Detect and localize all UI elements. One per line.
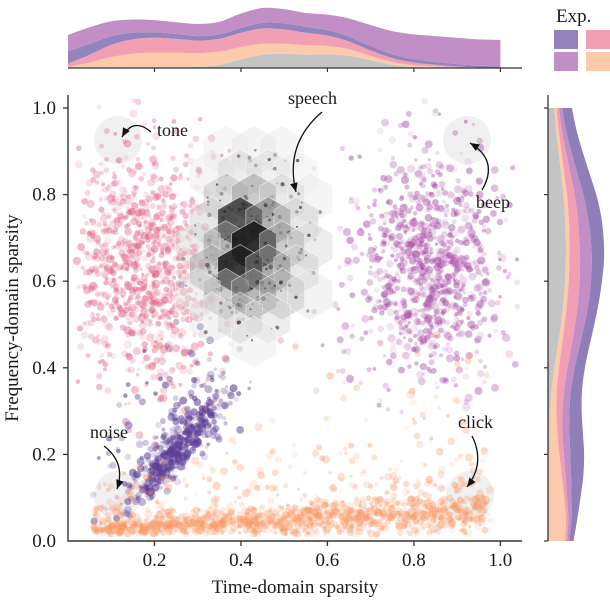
scatter-point <box>127 402 131 406</box>
scatter-point <box>169 428 177 436</box>
scatter-point <box>403 336 406 339</box>
scatter-point <box>212 394 219 401</box>
scatter-point <box>213 368 217 372</box>
scatter-point <box>145 496 150 501</box>
scatter-point <box>455 239 460 244</box>
scatter-point <box>180 317 186 323</box>
scatter-point <box>191 447 196 452</box>
scatter-point <box>170 508 176 514</box>
scatter-point <box>412 250 420 258</box>
scatter-point <box>386 199 390 203</box>
scatter-point <box>483 290 488 295</box>
scatter-point <box>385 490 390 495</box>
scatter-point <box>292 343 298 349</box>
y-axis-title: Frequency-domain sparsity <box>2 214 23 422</box>
scatter-point <box>498 295 501 298</box>
legend-title: Exp. <box>556 6 591 27</box>
scatter-point <box>140 335 146 341</box>
scatter-point <box>482 279 490 287</box>
scatter-point <box>134 297 137 300</box>
scatter-point <box>169 216 173 220</box>
scatter-point <box>421 515 427 521</box>
scatter-point <box>84 301 91 308</box>
scatter-point <box>266 452 273 459</box>
scatter-point <box>485 228 491 234</box>
scatter-point <box>431 351 437 357</box>
scatter-point <box>137 519 141 523</box>
scatter-point <box>433 189 440 196</box>
scatter-point <box>436 448 444 456</box>
scatter-point <box>415 352 421 358</box>
scatter-point <box>402 488 410 496</box>
scatter-point <box>96 240 101 245</box>
scatter-point <box>365 296 371 302</box>
scatter-point <box>412 222 420 230</box>
scatter-point <box>168 367 175 374</box>
scatter-point <box>131 98 136 103</box>
scatter-point <box>454 351 460 357</box>
scatter-point <box>390 246 394 250</box>
scatter-point <box>510 165 515 170</box>
scatter-point <box>206 476 212 482</box>
scatter-point <box>302 528 306 532</box>
scatter-point <box>400 260 403 263</box>
scatter-point <box>238 501 244 507</box>
scatter-point <box>449 461 456 468</box>
annotation-label-click: click <box>458 412 493 432</box>
scatter-point <box>463 302 468 307</box>
scatter-point <box>464 394 472 402</box>
scatter-point <box>166 376 172 382</box>
scatter-point <box>505 350 513 358</box>
scatter-point <box>384 273 390 279</box>
scatter-point <box>225 385 228 388</box>
scatter-point <box>161 452 167 458</box>
scatter-point <box>416 318 420 322</box>
scatter-point <box>473 495 478 500</box>
scatter-point <box>433 484 437 488</box>
hexbin-speckle <box>256 254 260 258</box>
scatter-point <box>210 466 214 470</box>
scatter-point <box>91 300 98 307</box>
scatter-point <box>476 468 482 474</box>
scatter-point <box>106 253 113 260</box>
scatter-point <box>262 518 268 524</box>
scatter-point <box>512 361 519 368</box>
scatter-point <box>498 258 502 262</box>
legend-swatch-peach[interactable] <box>586 52 610 71</box>
y-tick-label: 0.4 <box>32 358 56 379</box>
scatter-point <box>412 420 417 425</box>
hexbin-speckle <box>264 287 266 289</box>
scatter-point <box>95 291 101 297</box>
scatter-point <box>185 483 189 487</box>
scatter-point <box>413 483 419 489</box>
scatter-point <box>436 248 443 255</box>
hexbin-speckle <box>243 263 246 266</box>
scatter-point <box>292 504 299 511</box>
scatter-point <box>367 206 371 210</box>
scatter-point <box>179 458 183 462</box>
scatter-point <box>363 220 371 228</box>
scatter-point <box>407 267 414 274</box>
scatter-point <box>371 454 377 460</box>
scatter-point <box>156 271 163 278</box>
scatter-point <box>479 219 485 225</box>
scatter-point <box>130 330 136 336</box>
scatter-point <box>463 190 470 197</box>
scatter-point <box>397 530 403 536</box>
scatter-point <box>76 285 80 289</box>
scatter-point <box>340 478 344 482</box>
scatter-point <box>475 303 483 311</box>
scatter-point <box>206 442 210 446</box>
scatter-point <box>216 525 220 529</box>
scatter-point <box>313 529 320 536</box>
scatter-point <box>133 279 140 286</box>
scatter-point <box>477 257 485 265</box>
hexbin-speckle <box>296 159 299 162</box>
scatter-point <box>184 496 188 500</box>
scatter-point <box>469 461 474 466</box>
scatter-point <box>390 352 397 359</box>
scatter-point <box>395 225 402 232</box>
scatter-point <box>135 245 140 250</box>
scatter-point <box>153 126 157 130</box>
hexbin-speckle <box>227 236 229 238</box>
scatter-point <box>453 397 460 404</box>
scatter-point <box>142 286 146 290</box>
scatter-point <box>264 510 272 518</box>
scatter-point <box>455 178 461 184</box>
scatter-point <box>478 359 483 364</box>
scatter-point <box>407 287 411 291</box>
scatter-point <box>161 293 167 299</box>
hexbin-speckle <box>253 262 255 264</box>
hexbin-speckle <box>230 262 233 265</box>
scatter-point <box>378 188 381 191</box>
hexbin-speckle <box>235 219 237 221</box>
scatter-point <box>515 304 520 309</box>
scatter-point <box>159 177 164 182</box>
scatter-point <box>425 163 432 170</box>
scatter-point <box>377 128 384 135</box>
scatter-point <box>437 275 442 280</box>
hexbin-speckle <box>248 230 250 232</box>
scatter-point <box>475 336 482 343</box>
scatter-point <box>136 220 142 226</box>
scatter-point <box>408 338 413 343</box>
scatter-point <box>390 493 397 500</box>
scatter-point <box>103 362 108 367</box>
scatter-point <box>282 525 289 532</box>
scatter-point <box>140 216 144 220</box>
scatter-point <box>127 194 132 199</box>
scatter-point <box>351 244 358 251</box>
scatter-point <box>411 503 415 507</box>
scatter-point <box>431 109 439 117</box>
x-axis-title: Time-domain sparsity <box>212 577 379 598</box>
scatter-point <box>465 330 473 338</box>
scatter-point <box>128 169 136 177</box>
scatter-point <box>180 202 184 206</box>
scatter-point <box>363 330 368 335</box>
scatter-point <box>236 464 244 472</box>
scatter-point <box>430 501 434 505</box>
legend-swatch-purple-blue[interactable] <box>554 30 578 49</box>
scatter-point <box>139 267 143 271</box>
scatter-point <box>186 411 192 417</box>
legend-swatch-orchid[interactable] <box>554 52 578 71</box>
scatter-point <box>440 284 444 288</box>
scatter-point <box>369 316 374 321</box>
scatter-point <box>276 493 280 497</box>
hexbin-speckle <box>244 231 246 233</box>
scatter-point <box>421 308 426 313</box>
scatter-point <box>339 282 345 288</box>
scatter-point <box>120 324 126 330</box>
scatter-point <box>351 324 355 328</box>
scatter-point <box>434 309 440 315</box>
scatter-point <box>143 313 149 319</box>
scatter-point <box>452 482 459 489</box>
scatter-point <box>85 253 93 261</box>
y-tick-label: 0.6 <box>32 271 56 292</box>
scatter-point <box>170 156 175 161</box>
scatter-point <box>402 318 407 323</box>
scatter-point <box>403 481 409 487</box>
scatter-point <box>159 507 164 512</box>
scatter-point <box>162 381 169 388</box>
scatter-point <box>213 482 221 490</box>
scatter-point <box>104 237 111 244</box>
scatter-point <box>337 336 344 343</box>
scatter-point <box>436 161 444 169</box>
scatter-point <box>444 288 452 296</box>
scatter-point <box>288 520 292 524</box>
scatter-point <box>288 464 293 469</box>
scatter-point <box>449 527 455 533</box>
scatter-point <box>168 476 175 483</box>
scatter-point <box>228 401 233 406</box>
scatter-point <box>272 470 278 476</box>
hexbin-speckle <box>266 259 268 261</box>
x-tick-label: 0.2 <box>143 550 167 571</box>
scatter-point <box>426 530 433 537</box>
scatter-point <box>431 217 435 221</box>
scatter-point <box>328 471 331 474</box>
scatter-point <box>132 185 137 190</box>
scatter-point <box>190 364 194 368</box>
scatter-point <box>284 531 288 535</box>
hexbin-speckle <box>221 216 225 220</box>
scatter-point <box>452 130 458 136</box>
scatter-point <box>258 505 264 511</box>
scatter-point <box>149 299 157 307</box>
scatter-point <box>310 524 314 528</box>
scatter-point <box>129 281 133 285</box>
legend-swatch-pink[interactable] <box>586 30 610 49</box>
scatter-point <box>110 269 115 274</box>
scatter-point <box>377 340 383 346</box>
scatter-point <box>387 334 395 342</box>
scatter-point <box>411 347 416 352</box>
hexbin-speckle <box>246 236 250 240</box>
scatter-point <box>198 424 202 428</box>
scatter-point <box>77 325 83 331</box>
scatter-point <box>353 453 359 459</box>
scatter-point <box>112 278 115 281</box>
scatter-point <box>420 510 425 515</box>
scatter-point <box>474 476 480 482</box>
scatter-point <box>424 316 432 324</box>
scatter-point <box>425 505 429 509</box>
hexbin-speckle <box>299 206 302 209</box>
scatter-point <box>207 371 214 378</box>
scatter-point <box>91 317 97 323</box>
scatter-point <box>439 181 446 188</box>
scatter-point <box>338 451 343 456</box>
scatter-point <box>442 200 446 204</box>
scatter-point <box>124 485 131 492</box>
scatter-point <box>402 219 407 224</box>
scatter-point <box>395 271 399 275</box>
scatter-point <box>122 471 126 475</box>
scatter-point <box>155 500 160 505</box>
scatter-point <box>398 476 402 480</box>
scatter-point <box>171 518 175 522</box>
hexbin-speckle <box>254 149 257 152</box>
scatter-point <box>165 484 173 492</box>
scatter-point <box>400 256 405 261</box>
scatter-point <box>382 185 389 192</box>
scatter-point <box>412 497 416 501</box>
scatter-point <box>467 291 475 299</box>
scatter-point <box>113 209 118 214</box>
scatter-point <box>432 513 438 519</box>
scatter-point <box>385 175 393 183</box>
scatter-point <box>100 315 107 322</box>
scatter-point <box>359 336 364 341</box>
scatter-point <box>155 506 159 510</box>
scatter-point <box>77 243 85 251</box>
scatter-point <box>148 222 154 228</box>
scatter-point <box>160 224 167 231</box>
scatter-point <box>284 514 287 517</box>
scatter-point <box>113 288 120 295</box>
scatter-point <box>124 140 132 148</box>
scatter-point <box>86 235 93 242</box>
scatter-point <box>325 503 330 508</box>
scatter-point <box>187 522 193 528</box>
hexbin-speckle <box>245 204 247 206</box>
hexbin-speckle <box>268 158 271 161</box>
scatter-point <box>182 420 187 425</box>
scatter-point <box>274 531 277 534</box>
scatter-point <box>243 528 249 534</box>
scatter-point <box>435 242 438 245</box>
scatter-point <box>435 169 440 174</box>
scatter-point <box>146 142 150 146</box>
hexbin-speckle <box>215 267 217 269</box>
scatter-point <box>402 203 408 209</box>
scatter-point <box>472 245 475 248</box>
hexbin-speckle <box>264 203 268 207</box>
scatter-point <box>390 161 397 168</box>
scatter-point <box>215 389 220 394</box>
scatter-point <box>85 190 91 196</box>
scatter-point <box>150 173 156 179</box>
scatter-point <box>230 522 233 525</box>
scatter-point <box>113 230 119 236</box>
scatter-point <box>169 264 175 270</box>
scatter-point <box>162 191 169 198</box>
scatter-point <box>181 345 187 351</box>
scatter-point <box>437 521 445 529</box>
scatter-point <box>101 182 105 186</box>
scatter-point <box>353 509 358 514</box>
hexbin-speckle <box>245 196 249 200</box>
scatter-point <box>412 135 417 140</box>
scatter-point <box>106 272 110 276</box>
scatter-point <box>99 264 104 269</box>
scatter-point <box>337 226 342 231</box>
scatter-point <box>116 157 123 164</box>
hexbin-speckle <box>243 211 246 214</box>
scatter-point <box>446 354 454 362</box>
scatter-point <box>349 474 352 477</box>
scatter-point <box>432 290 440 298</box>
scatter-point <box>323 510 327 514</box>
scatter-point <box>126 319 132 325</box>
scatter-point <box>121 164 126 169</box>
scatter-point <box>207 396 211 400</box>
scatter-point <box>487 334 491 338</box>
scatter-point <box>424 463 428 467</box>
hexbin-speckle <box>219 301 222 304</box>
scatter-point <box>314 508 318 512</box>
scatter-point <box>291 451 298 458</box>
scatter-point <box>382 299 388 305</box>
scatter-point <box>454 230 460 236</box>
scatter-point <box>146 251 151 256</box>
scatter-point <box>383 222 386 225</box>
scatter-point <box>399 267 406 274</box>
scatter-point <box>408 255 412 259</box>
scatter-point <box>430 340 437 347</box>
scatter-point <box>477 138 483 144</box>
scatter-point <box>123 241 129 247</box>
scatter-point <box>96 104 101 109</box>
scatter-point <box>169 531 173 535</box>
scatter-point <box>142 249 147 254</box>
scatter-point <box>381 291 388 298</box>
scatter-point <box>76 145 82 151</box>
scatter-point <box>140 488 146 494</box>
hexbin-speckle <box>283 257 287 261</box>
scatter-point <box>270 529 274 533</box>
scatter-point <box>194 442 198 446</box>
scatter-point <box>369 265 372 268</box>
hexbin-speckle <box>237 154 240 157</box>
scatter-point <box>436 386 440 390</box>
scatter-point <box>120 287 123 290</box>
scatter-point <box>82 250 86 254</box>
scatter-point <box>160 530 166 536</box>
scatter-point <box>356 207 360 211</box>
scatter-point <box>242 489 250 497</box>
scatter-point <box>369 501 374 506</box>
